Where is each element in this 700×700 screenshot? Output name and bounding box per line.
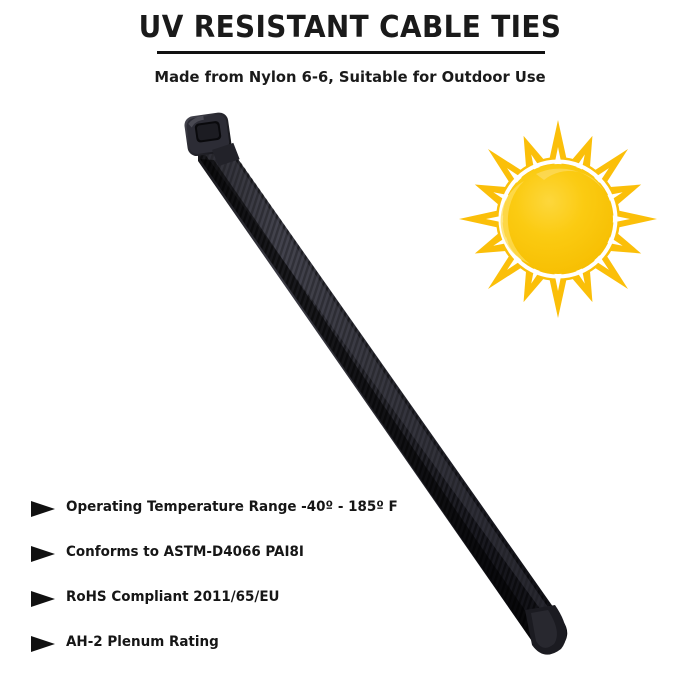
- triangle-right-icon: [30, 590, 56, 608]
- feature-item-operating-temperature: Operating Temperature Range -40º - 185º …: [30, 498, 470, 543]
- title-divider: [157, 51, 545, 54]
- feature-item-label: AH-2 Plenum Rating: [66, 633, 450, 651]
- triangle-right-icon: [30, 500, 56, 518]
- cable-tie-tail-tip: [525, 605, 566, 655]
- page-subtitle: Made from Nylon 6-6, Suitable for Outdoo…: [18, 66, 683, 88]
- triangle-right-icon: [30, 635, 56, 653]
- feature-list: Operating Temperature Range -40º - 185º …: [30, 498, 470, 678]
- page-title: UV RESISTANT CABLE TIES: [25, 10, 676, 46]
- product-feature-graphic: UV RESISTANT CABLE TIES Made from Nylon …: [0, 0, 700, 700]
- feature-item-label: Operating Temperature Range -40º - 185º …: [66, 498, 450, 516]
- triangle-right-icon: [30, 545, 56, 563]
- feature-item-label: Conforms to ASTM-D4066 PAI8I: [66, 543, 450, 561]
- feature-item-astm-conformance: Conforms to ASTM-D4066 PAI8I: [30, 543, 470, 588]
- feature-item-plenum-rating: AH-2 Plenum Rating: [30, 633, 470, 678]
- feature-item-rohs-compliance: RoHS Compliant 2011/65/EU: [30, 588, 470, 633]
- feature-item-label: RoHS Compliant 2011/65/EU: [66, 588, 450, 606]
